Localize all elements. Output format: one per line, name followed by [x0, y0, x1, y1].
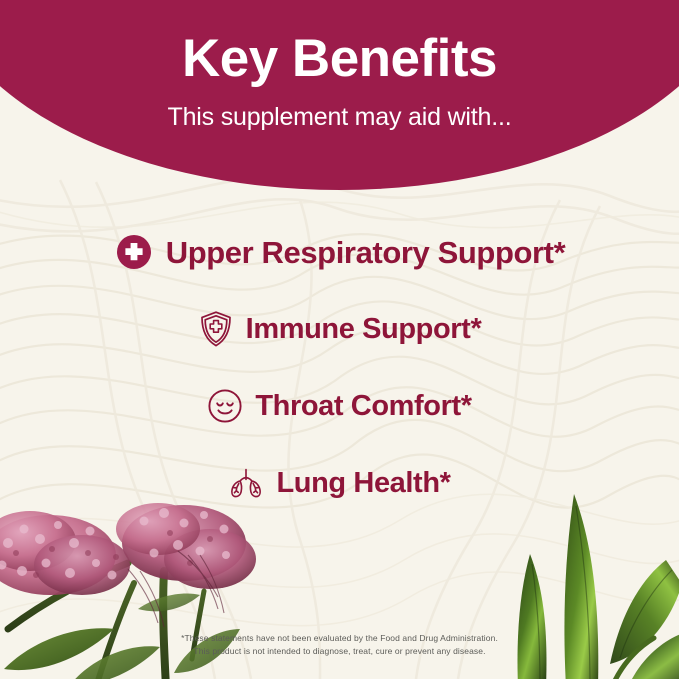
header-banner [0, 0, 679, 190]
benefit-label: Immune Support* [246, 315, 482, 344]
benefit-item-lung-health: Lung Health* [0, 463, 679, 503]
circle-cross-icon [114, 232, 154, 272]
benefit-item-throat-comfort: Throat Comfort* [0, 386, 679, 426]
benefit-item-immune-support: Immune Support* [0, 309, 679, 349]
disclaimer: *These statements have not been evaluate… [0, 632, 679, 657]
smiley-face-icon [207, 386, 243, 426]
benefit-label: Lung Health* [276, 469, 450, 498]
infographic-canvas: Key Benefits This supplement may aid wit… [0, 0, 679, 679]
benefit-label: Upper Respiratory Support* [166, 237, 566, 268]
shield-cross-icon [198, 309, 234, 349]
disclaimer-line-2: This product is not intended to diagnose… [120, 645, 559, 657]
benefit-item-upper-respiratory-support: Upper Respiratory Support* [0, 232, 679, 272]
disclaimer-line-1: *These statements have not been evaluate… [120, 632, 559, 644]
lungs-icon [228, 463, 264, 503]
benefit-label: Throat Comfort* [255, 392, 471, 421]
benefits-list: Upper Respiratory Support* Immune Suppor… [0, 232, 679, 540]
